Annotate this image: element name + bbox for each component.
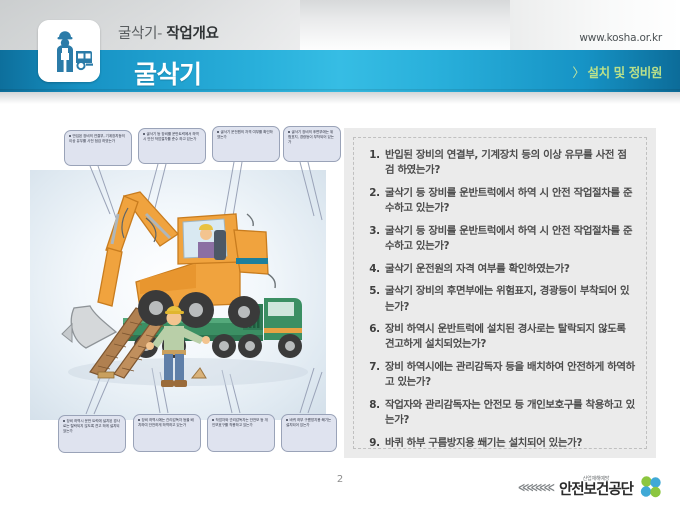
organization-logo: ≪≪≪≪ 산업재해예방 안전보건공단 <box>518 472 664 502</box>
chevron-decoration-icon: ≪≪≪≪ <box>518 482 552 493</box>
callout-text: 굴삭기 운전원의 자격 여부를 확인하였는가 <box>217 130 273 139</box>
callout-bubble: 굴삭기 등 장비를 운반트럭에서 하역시 안전 작업절차를 준수 하고 있는가 <box>138 128 206 164</box>
chevron-right-icon: 〉 <box>572 65 584 80</box>
callout-text: 굴삭기 등 장비를 운반트럭에서 하역시 안전 작업절차를 준수 하고 있는가 <box>143 132 199 141</box>
bullet-dot-icon <box>288 131 290 133</box>
callout-bubble: 굴삭기 운전원의 자격 여부를 확인하였는가 <box>212 126 280 162</box>
header-top-bar <box>0 0 680 50</box>
breadcrumb-parent: 굴삭기 <box>118 26 157 42</box>
section-label-group: 〉설치 및 정비원 <box>572 62 662 81</box>
checklist-panel-inner: 반입된 장비의 연결부, 기계장치 등의 이상 유무를 사전 점검 하였는가? … <box>353 137 647 449</box>
bullet-dot-icon <box>63 420 65 422</box>
worker-with-vehicle-icon <box>38 20 100 82</box>
checklist-item: 장비 하역시 운반트럭에 설치된 경사로는 탈락되지 않도록 견고하게 설치되었… <box>383 322 635 352</box>
slide-canvas: 굴삭기- 작업개요 www.kosha.or.kr 굴삭기 〉설치 및 정비원 <box>0 0 680 510</box>
callout-bubble: 장비 하역시 운반 트럭에 설치된 경사로는 탈락되지 않도록 견고 하게 설치… <box>58 415 126 453</box>
checklist-item: 굴삭기 운전원의 자격 여부를 확인하였는가? <box>383 262 635 277</box>
illustration-area: 반입된 장비의 연결부, 기계장치등의 이상 유무를 사전 점검 하였는가 굴삭… <box>28 122 330 462</box>
checklist-item: 반입된 장비의 연결부, 기계장치 등의 이상 유무를 사전 점검 하였는가? <box>383 148 635 178</box>
callout-text: 굴삭기 장비의 후면부에는 위험표지, 경광등이 부착되어 있는가 <box>288 130 334 144</box>
callout-bubble: 바퀴 하부 구름방지용 쐐기는 설치되어 있는가 <box>281 414 337 452</box>
bullet-dot-icon <box>138 419 140 421</box>
callout-text: 반입된 장비의 연결부, 기계장치등의 이상 유무를 사전 점검 하였는가 <box>69 134 125 143</box>
organization-name-block: 산업재해예방 안전보건공단 <box>559 477 633 498</box>
section-label: 설치 및 정비원 <box>587 65 662 80</box>
callout-bubble: 반입된 장비의 연결부, 기계장치등의 이상 유무를 사전 점검 하였는가 <box>64 130 132 166</box>
callout-text: 작업자와 관리감독자는 안전모 등 개인보호구를 착용하고 있는가 <box>212 418 268 427</box>
breadcrumb-separator: - <box>157 26 166 42</box>
callout-text: 장비 하역시에는 관리감독자 등을 배치하여 안전하게 하역하고 있는가 <box>138 418 194 427</box>
callout-text: 바퀴 하부 구름방지용 쐐기는 설치되어 있는가 <box>286 418 331 427</box>
checklist-item: 장비 하역시에는 관리감독자 등을 배치하여 안전하게 하역하고 있는가? <box>383 360 635 390</box>
header-drop-shadow <box>0 92 680 104</box>
checklist: 반입된 장비의 연결부, 기계장치 등의 이상 유무를 사전 점검 하였는가? … <box>363 148 635 451</box>
breadcrumb: 굴삭기- 작업개요 <box>118 22 219 43</box>
organization-name: 안전보건공단 <box>559 483 633 498</box>
checklist-item: 바퀴 하부 구름방지용 쐐기는 설치되어 있는가? <box>383 436 635 451</box>
checklist-item: 굴삭기 등 장비를 운반트럭에서 하역 시 안전 작업절차를 준수하고 있는가? <box>383 224 635 254</box>
callout-bubble: 장비 하역시에는 관리감독자 등을 배치하여 안전하게 하역하고 있는가 <box>133 414 201 452</box>
site-url: www.kosha.or.kr <box>579 32 662 44</box>
breadcrumb-current: 작업개요 <box>166 26 218 42</box>
kosha-clover-logo <box>638 474 664 500</box>
bullet-dot-icon <box>212 419 214 421</box>
checklist-item: 작업자와 관리감독자는 안전모 등 개인보호구를 착용하고 있는가? <box>383 398 635 428</box>
organization-tagline: 산업재해예방 <box>559 477 633 482</box>
callout-bubble: 작업자와 관리감독자는 안전모 등 개인보호구를 착용하고 있는가 <box>207 414 275 452</box>
callout-text: 장비 하역시 운반 트럭에 설치된 경사로는 탈락되지 않도록 견고 하게 설치… <box>63 419 120 433</box>
checklist-item: 굴삭기 등 장비를 운반트럭에서 하역 시 안전 작업절차를 준수하고 있는가? <box>383 186 635 216</box>
bullet-dot-icon <box>143 133 145 135</box>
checklist-item: 굴삭기 장비의 후면부에는 위험표지, 경광등이 부착되어 있는가? <box>383 284 635 314</box>
checklist-panel: 반입된 장비의 연결부, 기계장치 등의 이상 유무를 사전 점검 하였는가? … <box>344 128 656 458</box>
excavator-loading-onto-truck-illustration <box>28 122 330 462</box>
bullet-dot-icon <box>217 131 219 133</box>
callout-bubble: 굴삭기 장비의 후면부에는 위험표지, 경광등이 부착되어 있는가 <box>283 126 341 162</box>
bullet-dot-icon <box>286 419 288 421</box>
bullet-dot-icon <box>69 135 71 137</box>
page-title: 굴삭기 <box>134 55 202 91</box>
